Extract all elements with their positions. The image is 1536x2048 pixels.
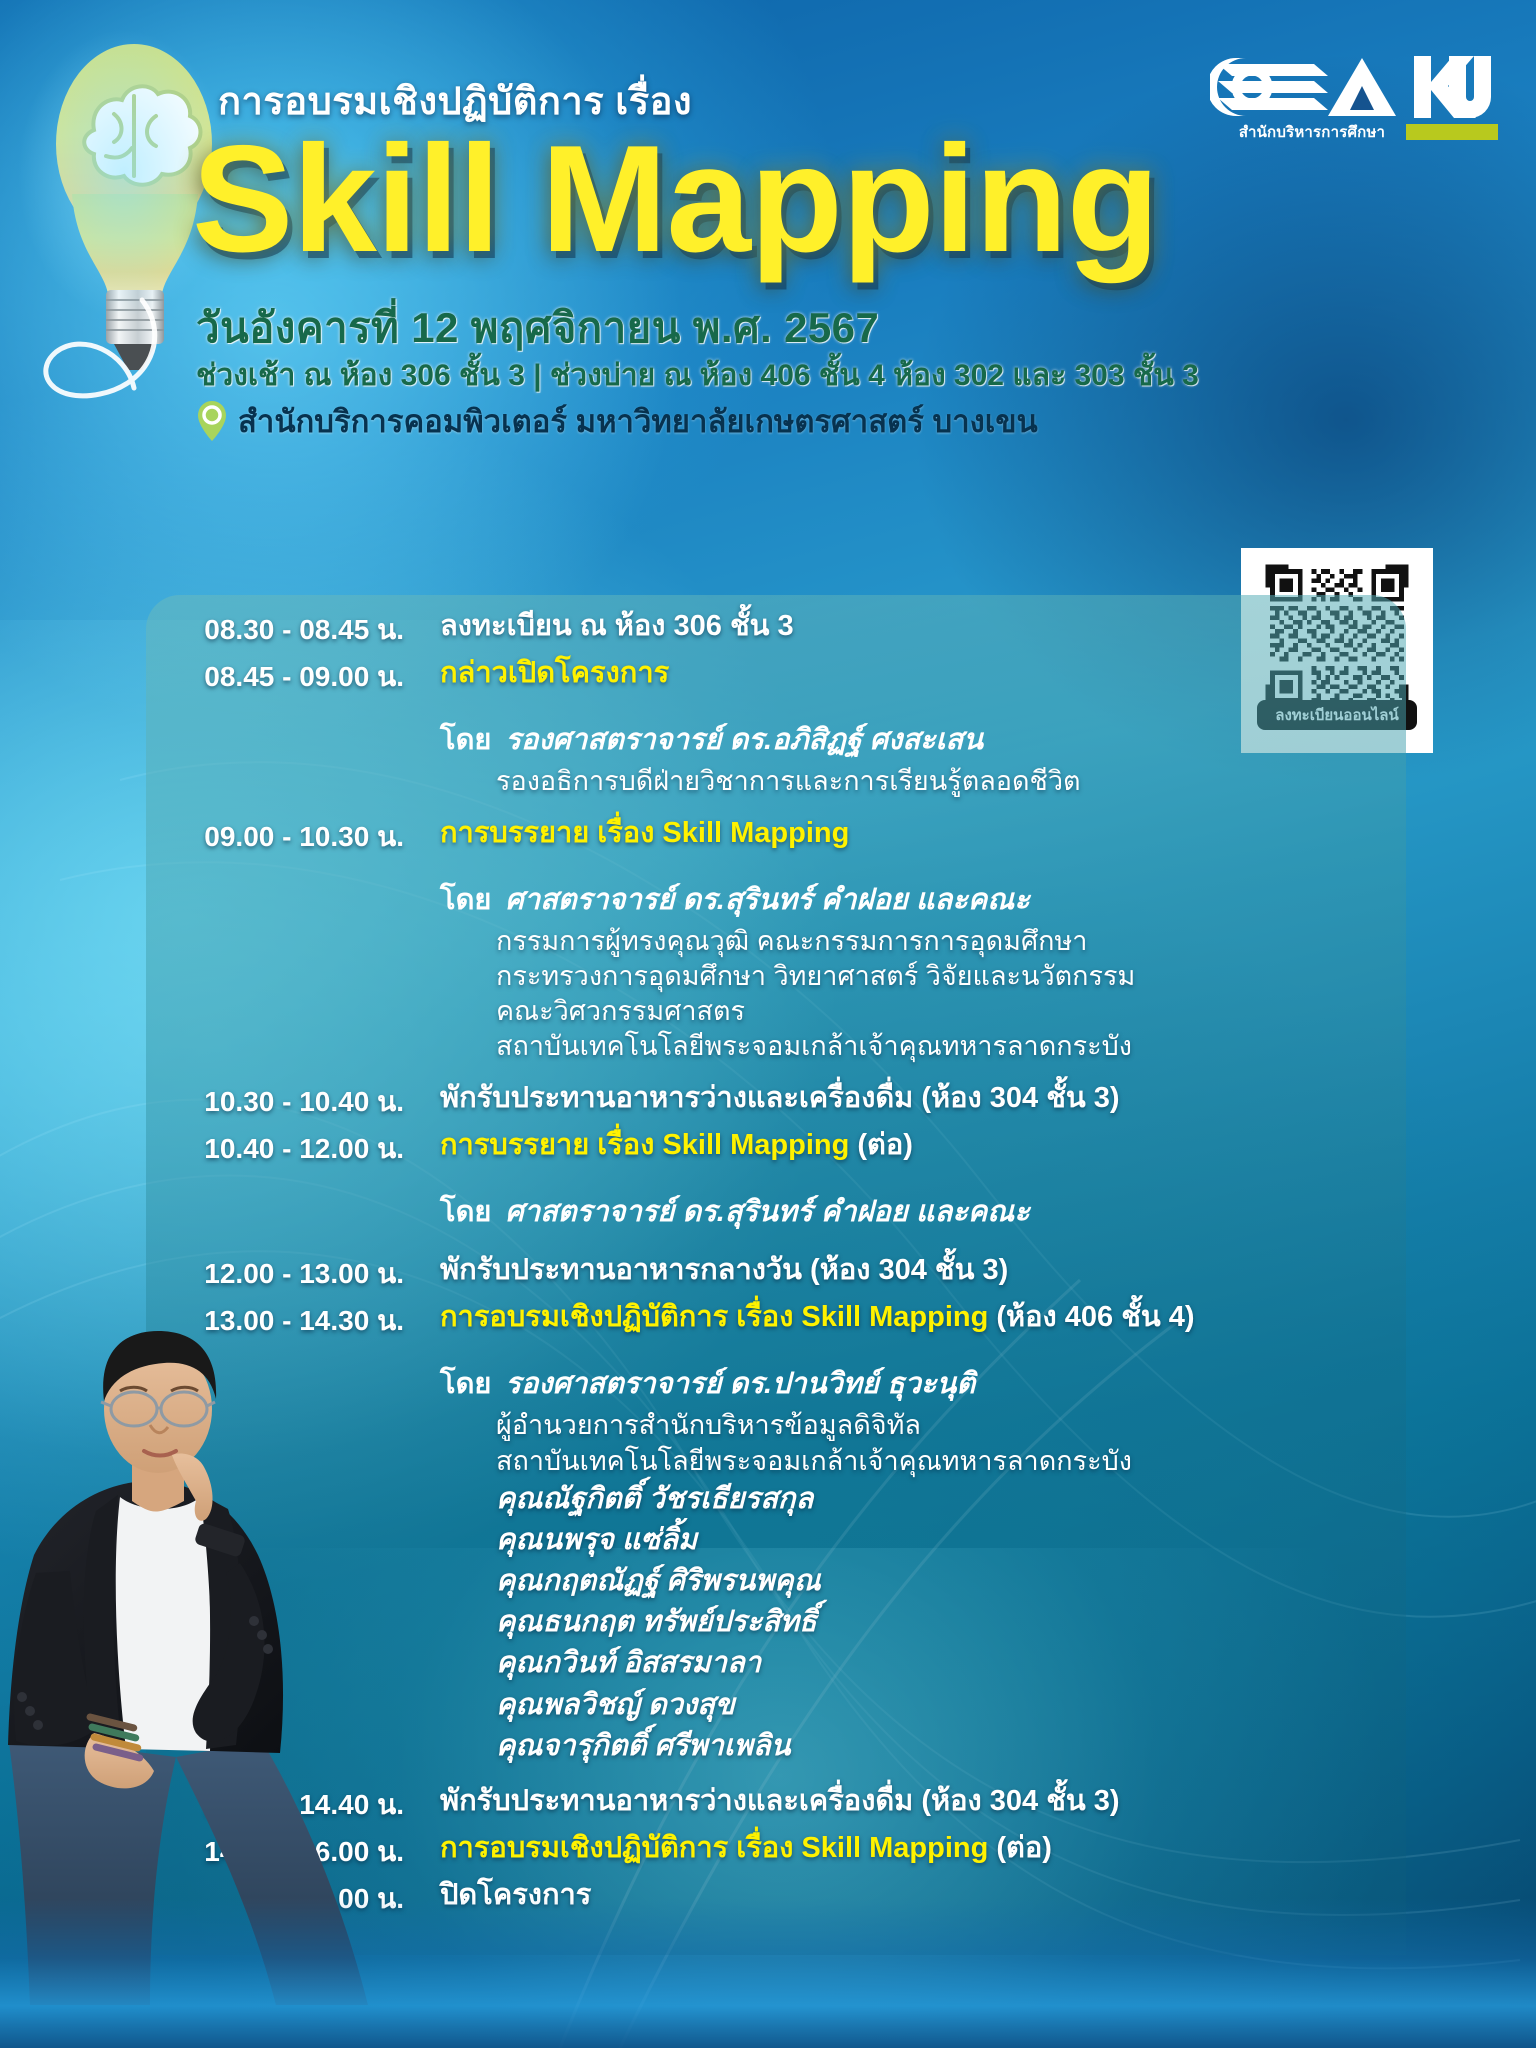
schedule-gap: [190, 1064, 1450, 1080]
schedule-time: 10.30 - 10.40 น.: [190, 1080, 440, 1124]
schedule-speaker-row: โดยศาสตราจารย์ ดร.สุรินทร์ คำฝอย และคณะ: [190, 876, 1450, 922]
schedule-gap: [190, 1236, 1450, 1252]
schedule-time: 09.00 - 10.30 น.: [190, 815, 440, 859]
schedule-by-label: โดย: [440, 1360, 491, 1406]
poster-venue-line: สำนักบริการคอมพิวเตอร์ มหาวิทยาลัยเกษตรศ…: [196, 400, 1196, 442]
schedule-speaker-name: ศาสตราจารย์ ดร.สุรินทร์ คำฝอย และคณะ: [505, 1188, 1029, 1234]
map-pin-icon: [196, 400, 228, 442]
schedule-description: กล่าวเปิดโครงการ: [440, 655, 1450, 692]
schedule-spacer: [190, 764, 440, 799]
schedule-staff-name: คุณนพรุจ แซ่ลิ้ม: [440, 1520, 697, 1561]
oea-logo-icon: [1210, 50, 1500, 128]
schedule-row: 08.45 - 09.00 น.กล่าวเปิดโครงการ: [190, 655, 1450, 699]
schedule-by-label: โดย: [440, 876, 491, 922]
schedule-detail-row: รองอธิการบดีฝ่ายวิชาการและการเรียนรู้ตลอ…: [190, 764, 1450, 799]
schedule-description-main: การบรรยาย เรื่อง Skill Mapping: [440, 817, 849, 849]
schedule-staff-name: คุณกวินท์ อิสสรมาลา: [440, 1643, 761, 1684]
schedule-description-main: กล่าวเปิดโครงการ: [440, 657, 669, 689]
schedule-gap: [190, 702, 1450, 712]
schedule-description-suffix: (ต่อ): [988, 1832, 1052, 1864]
schedule-row: 10.40 - 12.00 น.การบรรยาย เรื่อง Skill M…: [190, 1127, 1450, 1171]
schedule-speaker-row: โดยรองศาสตราจารย์ ดร.อภิสิฏฐ์ ศงสะเสน: [190, 716, 1450, 762]
schedule-description: พักรับประทานอาหารกลางวัน (ห้อง 304 ชั้น …: [440, 1252, 1450, 1289]
schedule-description: การบรรยาย เรื่อง Skill Mapping (ต่อ): [440, 1127, 1450, 1164]
schedule-description-main: พักรับประทานอาหารกลางวัน (ห้อง 304 ชั้น …: [440, 1254, 1008, 1286]
schedule-description-main: พักรับประทานอาหารว่างและเครื่องดื่ม (ห้อ…: [440, 1082, 1120, 1114]
schedule-staff-name: คุณจารุกิตติ์ ศรีพาเพลิน: [440, 1726, 790, 1767]
schedule-speaker-name: รองศาสตราจารย์ ดร.ปานวิทย์ ธุวะนุติ: [505, 1360, 975, 1406]
schedule-speaker-row: โดยศาสตราจารย์ ดร.สุรินทร์ คำฝอย และคณะ: [190, 1188, 1450, 1234]
schedule-staff-name: คุณกฤตณัฏฐ์ ศิริพรนพคุณ: [440, 1561, 821, 1602]
schedule-time: 12.00 - 13.00 น.: [190, 1252, 440, 1296]
schedule-staff-name: คุณธนกฤต ทรัพย์ประสิทธิ์: [440, 1602, 817, 1643]
schedule-gap: [190, 862, 1450, 872]
schedule-description-main: ลงทะเบียน ณ ห้อง 306 ชั้น 3: [440, 610, 794, 642]
schedule-description-main: ปิดโครงการ: [440, 1879, 591, 1911]
schedule-speaker: โดยศาสตราจารย์ ดร.สุรินทร์ คำฝอย และคณะ: [440, 876, 1030, 922]
schedule-spacer: [190, 924, 440, 959]
poster-title: Skill Mapping: [192, 120, 1372, 280]
schedule-description: พักรับประทานอาหารว่างและเครื่องดื่ม (ห้อ…: [440, 1080, 1450, 1117]
schedule-detail-text: กรรมการผู้ทรงคุณวุฒิ คณะกรรมการการอุดมศึ…: [440, 924, 1087, 959]
schedule-row: 09.00 - 10.30 น.การบรรยาย เรื่อง Skill M…: [190, 815, 1450, 859]
schedule-gap: [190, 799, 1450, 815]
schedule-speaker: โดยศาสตราจารย์ ดร.สุรินทร์ คำฝอย และคณะ: [440, 1188, 1030, 1234]
schedule-row: 10.30 - 10.40 น.พักรับประทานอาหารว่างและ…: [190, 1080, 1450, 1124]
schedule-detail-text: ผู้อำนวยการสำนักบริหารข้อมูลดิจิทัล: [440, 1408, 921, 1443]
schedule-detail-row: สถาบันเทคโนโลยีพระจอมเกล้าเจ้าคุณทหารลาด…: [190, 1029, 1450, 1064]
schedule-by-label: โดย: [440, 1188, 491, 1234]
schedule-time: 10.40 - 12.00 น.: [190, 1127, 440, 1171]
schedule-speaker: โดยรองศาสตราจารย์ ดร.อภิสิฏฐ์ ศงสะเสน: [440, 716, 983, 762]
schedule-speaker: โดยรองศาสตราจารย์ ดร.ปานวิทย์ ธุวะนุติ: [440, 1360, 975, 1406]
schedule-detail-text: รองอธิการบดีฝ่ายวิชาการและการเรียนรู้ตลอ…: [440, 764, 1081, 799]
logo-accent-bar: [1406, 124, 1498, 140]
schedule-gap: [190, 1174, 1450, 1184]
schedule-description: การบรรยาย เรื่อง Skill Mapping: [440, 815, 1450, 852]
schedule-description-suffix: (ห้อง 406 ชั้น 4): [988, 1301, 1194, 1333]
schedule-detail-text: กระทรวงการอุดมศึกษา วิทยาศาสตร์ วิจัยและ…: [440, 959, 1135, 994]
poster-venue-text: สำนักบริการคอมพิวเตอร์ มหาวิทยาลัยเกษตรศ…: [238, 396, 1038, 446]
schedule-description: ปิดโครงการ: [440, 1877, 1450, 1914]
poster-canvas: สำนักบริหารการศึกษา การอบรมเชิงปฏิบัติกา…: [0, 0, 1536, 2048]
schedule-speaker-name: ศาสตราจารย์ ดร.สุรินทร์ คำฝอย และคณะ: [505, 876, 1029, 922]
poster-rooms: ช่วงเช้า ณ ห้อง 306 ชั้น 3 | ช่วงบ่าย ณ …: [196, 352, 1396, 399]
schedule-staff-name: คุณณัฐกิตติ์ วัชรเธียรสกุล: [440, 1479, 813, 1520]
schedule-description: ลงทะเบียน ณ ห้อง 306 ชั้น 3: [440, 608, 1450, 645]
schedule-spacer: [190, 1029, 440, 1064]
schedule-detail-text: สถาบันเทคโนโลยีพระจอมเกล้าเจ้าคุณทหารลาด…: [440, 1029, 1132, 1064]
schedule-row: 12.00 - 13.00 น.พักรับประทานอาหารกลางวัน…: [190, 1252, 1450, 1296]
schedule-detail-text: สถาบันเทคโนโลยีพระจอมเกล้าเจ้าคุณทหารลาด…: [440, 1444, 1132, 1479]
schedule-description: การอบรมเชิงปฏิบัติการ เรื่อง Skill Mappi…: [440, 1299, 1450, 1336]
schedule-by-label: โดย: [440, 716, 491, 762]
schedule-description-main: การอบรมเชิงปฏิบัติการ เรื่อง Skill Mappi…: [440, 1301, 988, 1333]
schedule-row: 08.30 - 08.45 น.ลงทะเบียน ณ ห้อง 306 ชั้…: [190, 608, 1450, 652]
schedule-description-main: พักรับประทานอาหารว่างและเครื่องดื่ม (ห้อ…: [440, 1785, 1120, 1817]
schedule-time: 08.30 - 08.45 น.: [190, 608, 440, 652]
speaker-photo: [0, 1305, 385, 2005]
schedule-detail-row: กระทรวงการอุดมศึกษา วิทยาศาสตร์ วิจัยและ…: [190, 959, 1450, 994]
schedule-spacer: [190, 994, 440, 1029]
schedule-description-suffix: (ต่อ): [849, 1129, 913, 1161]
schedule-description-main: การอบรมเชิงปฏิบัติการ เรื่อง Skill Mappi…: [440, 1832, 988, 1864]
schedule-description: การอบรมเชิงปฏิบัติการ เรื่อง Skill Mappi…: [440, 1830, 1450, 1867]
schedule-description: พักรับประทานอาหารว่างและเครื่องดื่ม (ห้อ…: [440, 1783, 1450, 1820]
schedule-detail-text: คณะวิศวกรรมศาสตร: [440, 994, 745, 1029]
schedule-time: 08.45 - 09.00 น.: [190, 655, 440, 699]
schedule-staff-name: คุณพลวิชญ์ ดวงสุข: [440, 1685, 735, 1726]
schedule-detail-row: กรรมการผู้ทรงคุณวุฒิ คณะกรรมการการอุดมศึ…: [190, 924, 1450, 959]
speaker-photo-illustration: [0, 1305, 385, 2005]
schedule-detail-row: คณะวิศวกรรมศาสตร: [190, 994, 1450, 1029]
schedule-spacer: [190, 959, 440, 994]
schedule-speaker-name: รองศาสตราจารย์ ดร.อภิสิฏฐ์ ศงสะเสน: [505, 716, 983, 762]
schedule-description-main: การบรรยาย เรื่อง Skill Mapping: [440, 1129, 849, 1161]
